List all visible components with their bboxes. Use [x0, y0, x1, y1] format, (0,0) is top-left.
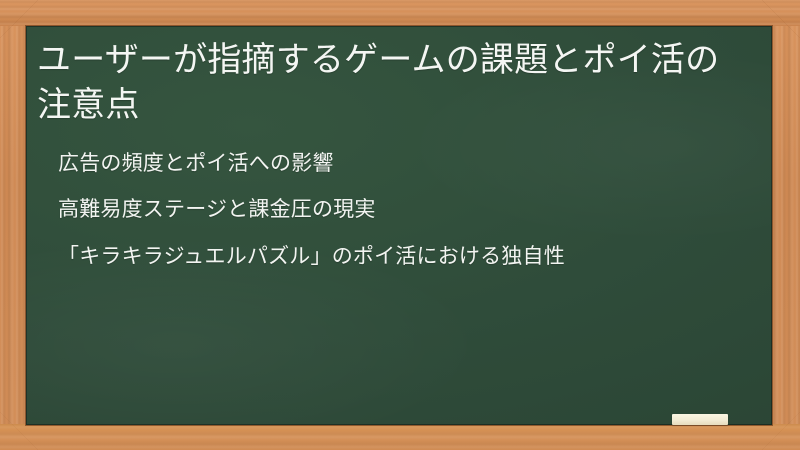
- chalk-stick-icon: [672, 414, 728, 425]
- chalkboard-surface: ユーザーが指摘するゲームの課題とポイ活の注意点 広告の頻度とポイ活への影響 高難…: [26, 26, 772, 425]
- bullet-list: 広告の頻度とポイ活への影響 高難易度ステージと課金圧の現実 「キラキラジュエルパ…: [34, 148, 748, 271]
- slide-canvas: ユーザーが指摘するゲームの課題とポイ活の注意点 広告の頻度とポイ活への影響 高難…: [0, 0, 800, 450]
- chalkboard-content: ユーザーが指摘するゲームの課題とポイ活の注意点 広告の頻度とポイ活への影響 高難…: [26, 26, 772, 271]
- list-item: 広告の頻度とポイ活への影響: [58, 148, 748, 178]
- board-frame-bottom-ledge: [0, 424, 800, 450]
- board-frame-top-rail: [0, 0, 800, 26]
- list-item: 「キラキラジュエルパズル」のポイ活における独自性: [58, 241, 748, 271]
- page-title: ユーザーが指摘するゲームの課題とポイ活の注意点: [34, 38, 748, 128]
- list-item: 高難易度ステージと課金圧の現実: [58, 194, 748, 224]
